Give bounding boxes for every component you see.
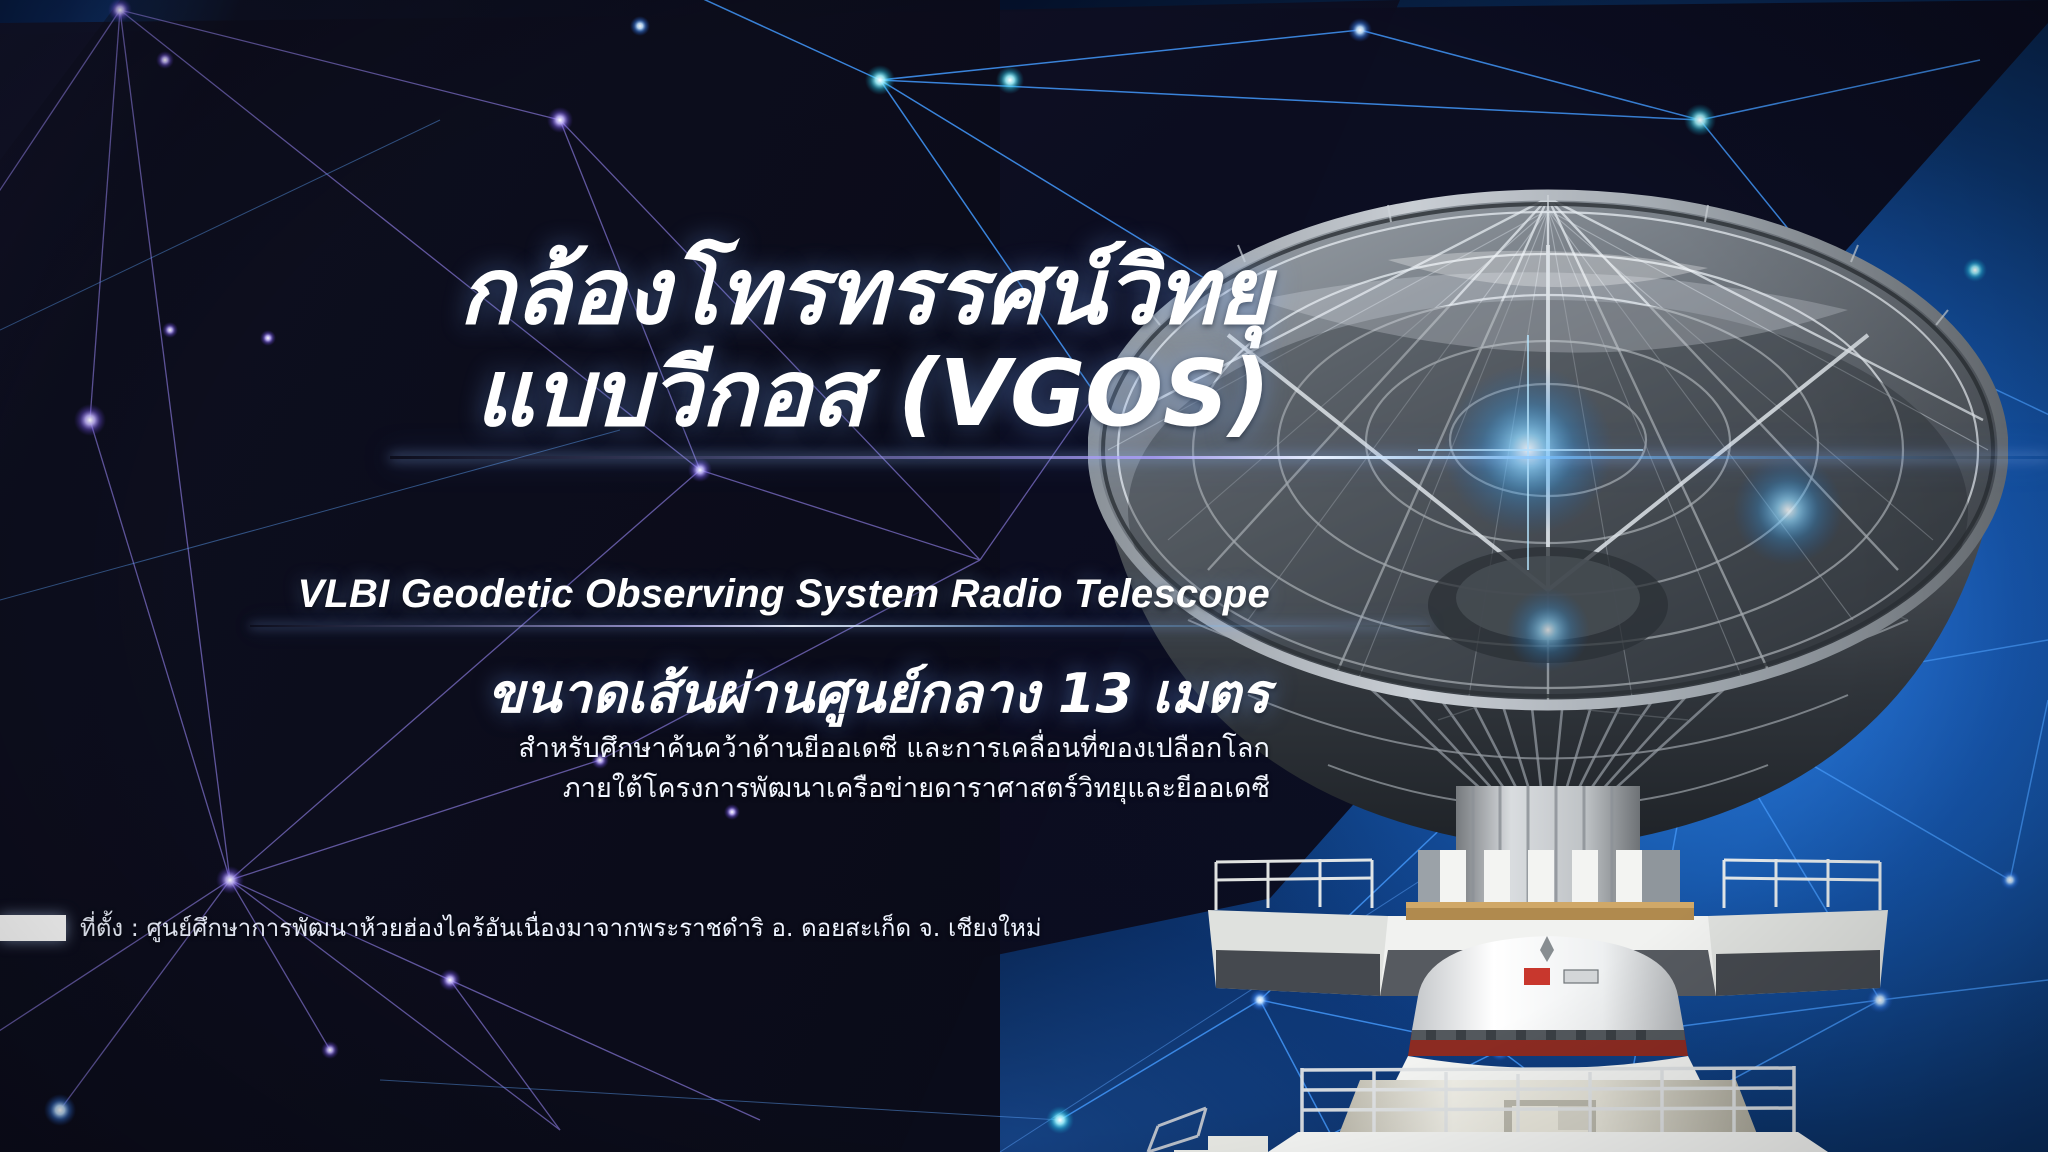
page-title-line1: กล้องโทรทรรศน์วิทยุ bbox=[459, 246, 1270, 338]
network-node bbox=[44, 0, 740, 1126]
description-line-2: ภายใต้โครงการพัฒนาเครือข่ายดาราศาสตร์วิท… bbox=[563, 766, 1270, 809]
subtitle-english: VLBI Geodetic Observing System Radio Tel… bbox=[298, 572, 1270, 617]
diameter-heading: ขนาดเส้นผ่านศูนย์กลาง 13 เมตร bbox=[487, 650, 1270, 736]
page-title-line2: แบบวีกอส (VGOS) bbox=[475, 348, 1270, 440]
location-marker-bar bbox=[0, 915, 66, 941]
banner-root: กล้องโทรทรรศน์วิทยุ แบบวีกอส (VGOS) VLBI… bbox=[0, 0, 2048, 1152]
description-line-1: สำหรับศึกษาค้นคว้าด้านยีออเดซี และการเคล… bbox=[518, 726, 1270, 769]
location-text: ที่ตั้ง : ศูนย์ศึกษาการพัฒนาห้วยฮ่องไคร้… bbox=[80, 908, 1042, 947]
glowing-separator-line-secondary bbox=[250, 625, 1430, 627]
location-strip: ที่ตั้ง : ศูนย์ศึกษาการพัฒนาห้วยฮ่องไคร้… bbox=[0, 908, 1042, 947]
glowing-separator-line bbox=[390, 456, 2048, 459]
